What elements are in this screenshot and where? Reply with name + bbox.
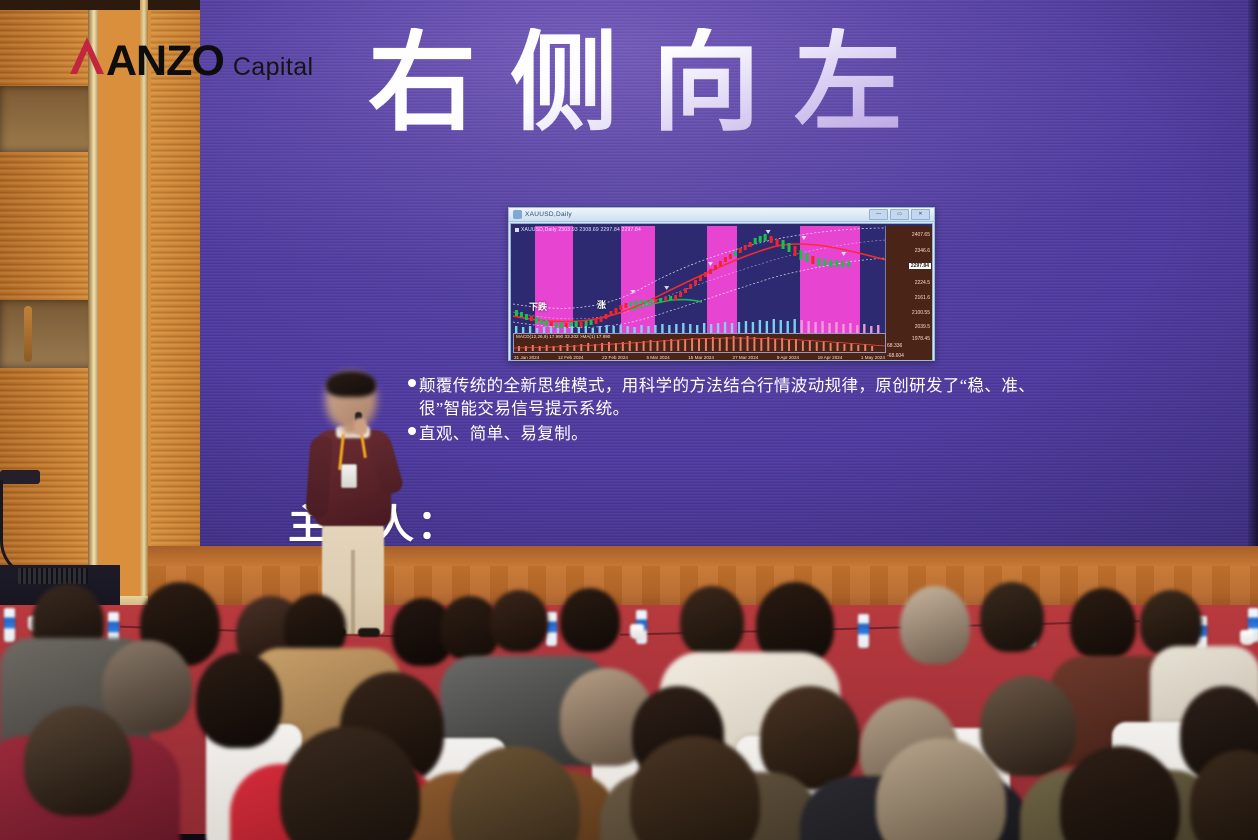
audience-head [102, 640, 192, 732]
water-bottle [858, 614, 869, 648]
price-axis: 2407.65 2346.6 2297.84 2224.5 2161.6 210… [885, 226, 932, 361]
audience-head [196, 652, 282, 748]
audience-head [1070, 588, 1136, 660]
pillar-gold-trim-left [88, 10, 98, 622]
name-badge [341, 464, 357, 488]
date-tick: 1 May 2024 [861, 355, 885, 360]
macd-label: MACD(12,26,9) 17.990 33.202 >MA(1) 17.99… [516, 334, 610, 339]
date-tick: 22 Feb 2024 [602, 355, 628, 360]
audience-head [980, 676, 1076, 776]
close-icon[interactable]: ✕ [911, 209, 930, 220]
audience-seating [0, 560, 1258, 840]
date-tick: 31 Jan 2024 [514, 355, 539, 360]
slide-title: 右侧向左 [368, 28, 936, 141]
date-tick: 12 Feb 2024 [558, 355, 584, 360]
chart-quote-line: XAUUSD,Daily 2303.93 2308.69 2297.84 229… [515, 227, 641, 233]
price-tick: 2039.5 [915, 324, 930, 330]
trading-chart-window[interactable]: XAUUSD,Daily — ▭ ✕ [508, 207, 935, 361]
audience-head [24, 706, 132, 816]
tea-cup [630, 624, 644, 639]
price-tick: 2407.65 [912, 232, 930, 238]
macd-axis-tick-high: 68.336 [887, 343, 902, 349]
bullet-item: 颠覆传统的全新思维模式，用科学的方法结合行情波动规律，原创研发了“稳、准、很”智… [408, 374, 1068, 421]
slide-bullet-list: 颠覆传统的全新思维模式，用科学的方法结合行情波动规律，原创研发了“稳、准、很”智… [408, 374, 1068, 446]
anzo-capital-logo: ANZO Capital [66, 33, 313, 83]
chart-window-title: XAUUSD,Daily [525, 211, 869, 218]
price-plot-area: XAUUSD,Daily 2303.93 2308.69 2297.84 229… [513, 226, 886, 335]
chart-body: XAUUSD,Daily 2303.93 2308.69 2297.84 229… [510, 223, 933, 361]
tea-cup [1240, 630, 1254, 645]
chart-annotation-down: 下跌 [529, 300, 547, 313]
presenter-hair [326, 371, 376, 397]
chart-quote-text: XAUUSD,Daily 2303.93 2308.69 2297.84 229… [521, 227, 641, 233]
bullet-dot-icon [408, 427, 416, 435]
window-controls[interactable]: — ▭ ✕ [869, 209, 932, 220]
water-bottle [4, 608, 15, 642]
candlestick-svg [513, 226, 886, 335]
bullet-dot-icon [408, 379, 416, 387]
chart-app-icon [513, 210, 522, 219]
audience-head [560, 588, 620, 652]
price-tick: 1978.45 [912, 336, 930, 342]
audience-head [490, 590, 548, 652]
bullet-item: 直观、简单、易复制。 [408, 422, 1068, 445]
wall-recess-upper [0, 86, 95, 152]
audience-head [900, 586, 970, 664]
macd-axis-tick-low: -68.604 [887, 353, 904, 359]
bullet-text: 直观、简单、易复制。 [419, 422, 1068, 445]
date-axis: 31 Jan 2024 12 Feb 2024 22 Feb 2024 5 Ma… [513, 353, 886, 361]
price-tick: 2100.55 [912, 310, 930, 316]
maximize-icon[interactable]: ▭ [890, 209, 909, 220]
pillar-gold-trim-right [140, 0, 148, 622]
wall-recess-lower [0, 300, 95, 368]
logo-wordmark: ANZO [106, 40, 224, 83]
audience-head [980, 582, 1044, 652]
presentation-photo: ANZO Capital 右侧向左 XAUUSD,Daily — ▭ ✕ [0, 0, 1258, 840]
date-tick: 27 Mar 2024 [733, 355, 759, 360]
chart-annotation-up: 涨 [597, 298, 606, 311]
price-tick: 2161.6 [915, 295, 930, 301]
date-tick: 5 Mar 2024 [646, 355, 669, 360]
presenter-hand [353, 417, 368, 436]
date-tick: 19 Apr 2024 [818, 355, 843, 360]
minimize-icon[interactable]: — [869, 209, 888, 220]
screen-right-edge [1248, 0, 1258, 568]
current-price-tick: 2297.84 [909, 263, 931, 269]
price-tick: 2346.6 [915, 248, 930, 254]
chart-titlebar: XAUUSD,Daily — ▭ ✕ [509, 208, 934, 222]
logo-tagline: Capital [233, 53, 314, 82]
date-tick: 9 Apr 2024 [777, 355, 799, 360]
macd-indicator-pane: MACD(12,26,9) 17.990 33.202 >MA(1) 17.99… [513, 333, 886, 353]
wall-top-shadow [0, 0, 200, 10]
anzo-chevron-logo-icon [66, 33, 110, 75]
price-tick: 2224.5 [915, 280, 930, 286]
date-tick: 15 Mar 2024 [688, 355, 714, 360]
audience-head [680, 586, 744, 656]
bullet-text: 颠覆传统的全新思维模式，用科学的方法结合行情波动规律，原创研发了“稳、准、很”智… [419, 374, 1068, 421]
